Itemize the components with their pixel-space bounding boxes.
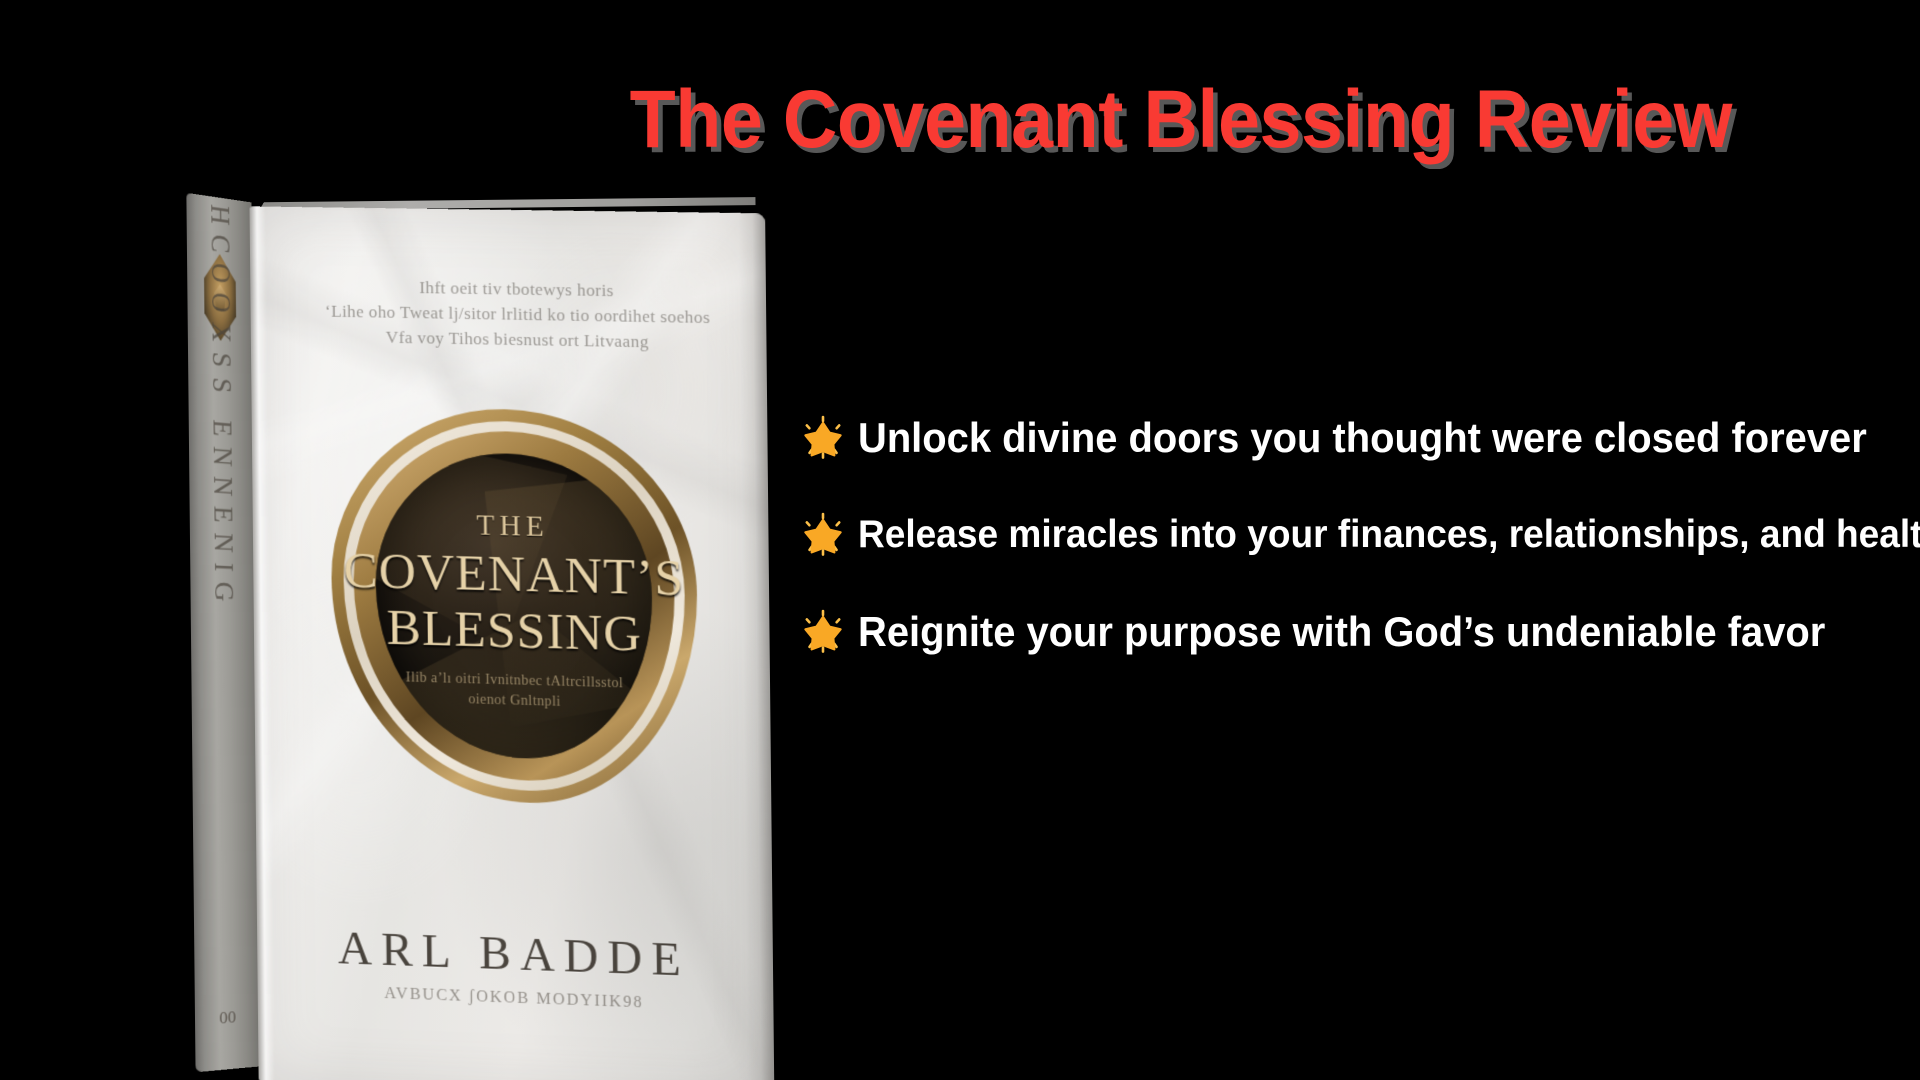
book-title-subtext: Ilib a’lı oitri Ivnitnbec tAltrcillsstol… (406, 668, 624, 714)
book-spine: THCOOXSS ENNENIG 00 (186, 193, 260, 1073)
benefits-list: Unlock divine doors you thought were clo… (800, 414, 1900, 656)
book-mockup: THCOOXSS ENNENIG 00 Ihft oeit tiv tbotew… (150, 190, 810, 1080)
page-title: The Covenant Blessing Review (77, 72, 1843, 168)
slide-canvas: The Covenant Blessing Review THCOOXSS EN… (0, 0, 1920, 1080)
book-3d: THCOOXSS ENNENIG 00 Ihft oeit tiv tbotew… (175, 197, 784, 1073)
benefit-text: Release miracles into your finances, rel… (858, 511, 1920, 559)
book-author-name: ARL BADDE (257, 918, 773, 990)
book-author-block: ARL BADDE AVBUCX ʃOKOB MODYIIK98 (257, 918, 773, 1017)
book-cover-badge: THE COVENANT’S BLESSING Ilib a’lı oitri … (330, 406, 699, 808)
list-item: Release miracles into your finances, rel… (800, 511, 1900, 559)
benefit-text: Unlock divine doors you thought were clo… (858, 414, 1867, 462)
glowing-star-icon (800, 512, 846, 558)
book-title-block: THE COVENANT’S BLESSING Ilib a’lı oitri … (330, 406, 699, 808)
benefit-text: Reignite your purpose with God’s undenia… (858, 608, 1825, 656)
list-item: Unlock divine doors you thought were clo… (800, 414, 1900, 462)
glowing-star-icon (800, 415, 846, 461)
glowing-star-icon (800, 609, 846, 655)
book-title-the: THE (476, 509, 549, 544)
book-spine-title: THCOOXSS ENNENIG (203, 193, 239, 658)
book-title-line-1: COVENANT’S (343, 542, 684, 607)
book-spine-publisher-mark: 00 (215, 1009, 241, 1026)
book-title-line-2: BLESSING (386, 600, 642, 663)
list-item: Reignite your purpose with God’s undenia… (800, 608, 1900, 656)
book-cover-blurb: Ihft oeit tiv tbotewys horis ‘Lihe oho T… (288, 273, 748, 356)
book-front-cover: Ihft oeit tiv tbotewys horis ‘Lihe oho T… (249, 206, 774, 1080)
